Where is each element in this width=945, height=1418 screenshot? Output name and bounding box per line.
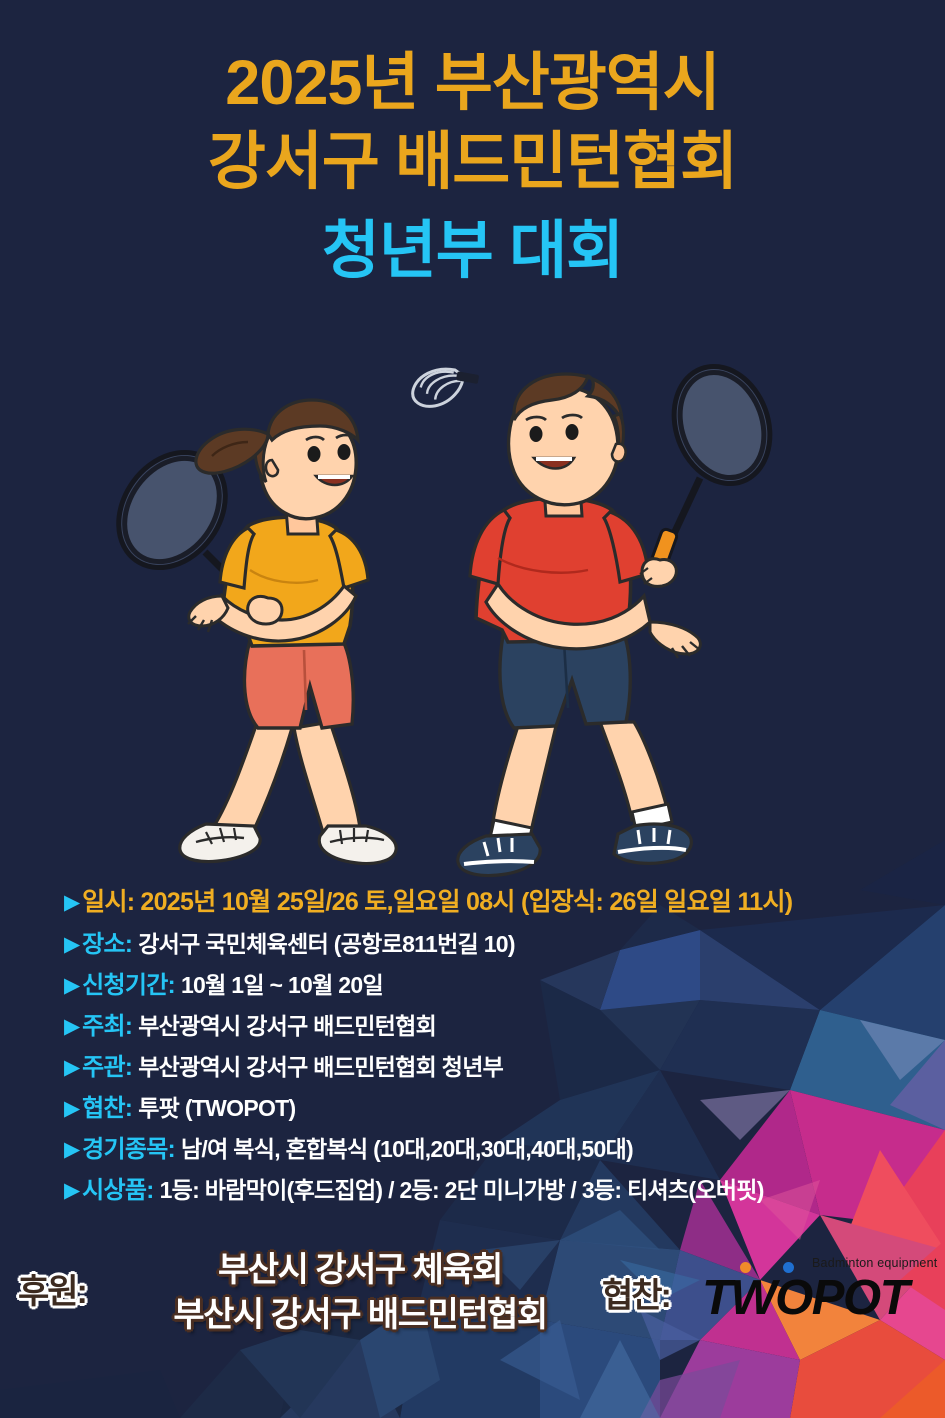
bullet-icon: ▶ [64, 1057, 80, 1078]
info-label: 일시: [82, 882, 134, 918]
info-label: 주최: [82, 1006, 132, 1041]
bullet-icon: ▶ [64, 1139, 80, 1160]
bullet-icon: ▶ [64, 1016, 80, 1037]
racket-male [658, 353, 785, 538]
poster-title: 2025년 부산광역시 강서구 배드민턴협회 청년부 대회 [0, 0, 945, 290]
info-value: 남/여 복식, 혼합복식 (10대,20대,30대,40대,50대) [181, 1130, 633, 1164]
title-line-1: 2025년 부산광역시 [0, 44, 945, 123]
bullet-icon: ▶ [64, 1098, 80, 1119]
info-value: 부산광역시 강서구 배드민턴협회 청년부 [138, 1048, 503, 1082]
info-value: 강서구 국민체육센터 (공항로811번길 10) [138, 925, 515, 959]
info-value: 부산광역시 강서구 배드민턴협회 [138, 1007, 436, 1041]
badminton-players-illustration [0, 330, 945, 890]
info-label: 협찬: [82, 1088, 132, 1123]
twopot-wordmark: TWOPOT [702, 1270, 908, 1326]
info-row: ▶ 일시: 2025년 10월 25일/26 토,일요일 08시 (입장식: 2… [64, 882, 944, 918]
player-male [458, 353, 786, 876]
info-row: ▶ 신청기간: 10월 1일 ~ 10월 20일 [64, 965, 944, 1000]
bullet-icon: ▶ [64, 1180, 80, 1201]
info-row: ▶ 경기종목: 남/여 복식, 혼합복식 (10대,20대,30대,40대,50… [64, 1129, 944, 1164]
sponsor-name: 부산시 강서구 배드민턴협회 [110, 1293, 610, 1338]
bullet-icon: ▶ [64, 892, 80, 913]
sponsor-name-group: 부산시 강서구 체육회 부산시 강서구 배드민턴협회 [110, 1248, 610, 1338]
info-label: 경기종목: [82, 1129, 175, 1164]
twopot-tagline: Badminton equipment [812, 1256, 937, 1270]
info-value: 1등: 바람막이(후드집업) / 2등: 2단 미니가방 / 3등: 티셔츠(오… [160, 1171, 764, 1205]
sponsor-name: 부산시 강서구 체육회 [110, 1248, 610, 1293]
shuttlecock-icon [408, 358, 485, 412]
sponsor-label: 후원: [18, 1264, 86, 1313]
event-info-list: ▶ 일시: 2025년 10월 25일/26 토,일요일 08시 (입장식: 2… [64, 882, 944, 1211]
info-value: 투팟 (TWOPOT) [138, 1089, 295, 1123]
footer-sponsors: 후원: 부산시 강서구 체육회 부산시 강서구 배드민턴협회 협찬: Badmi… [0, 1240, 945, 1418]
info-row: ▶ 주최: 부산광역시 강서구 배드민턴협회 [64, 1006, 944, 1041]
info-label: 장소: [82, 924, 132, 959]
info-value: 2025년 10월 25일/26 토,일요일 08시 (입장식: 26일 일요일… [140, 882, 792, 918]
poster-root: 2025년 부산광역시 강서구 배드민턴협회 청년부 대회 [0, 0, 945, 1418]
info-label: 시상품: [82, 1170, 153, 1205]
partner-label: 협찬: [602, 1268, 670, 1317]
info-row: ▶ 장소: 강서구 국민체육센터 (공항로811번길 10) [64, 924, 944, 959]
bullet-icon: ▶ [64, 934, 80, 955]
title-line-3: 청년부 대회 [0, 212, 945, 291]
bullet-icon: ▶ [64, 975, 80, 996]
info-row: ▶ 주관: 부산광역시 강서구 배드민턴협회 청년부 [64, 1047, 944, 1082]
player-female [97, 400, 396, 864]
info-row: ▶ 협찬: 투팟 (TWOPOT) [64, 1088, 944, 1123]
twopot-logo: Badminton equipment TWOPOT [700, 1248, 935, 1348]
title-line-2: 강서구 배드민턴협회 [0, 123, 945, 202]
info-label: 주관: [82, 1047, 132, 1082]
info-row: ▶ 시상품: 1등: 바람막이(후드집업) / 2등: 2단 미니가방 / 3등… [64, 1170, 944, 1205]
info-value: 10월 1일 ~ 10월 20일 [181, 966, 383, 1000]
info-label: 신청기간: [82, 965, 175, 1000]
